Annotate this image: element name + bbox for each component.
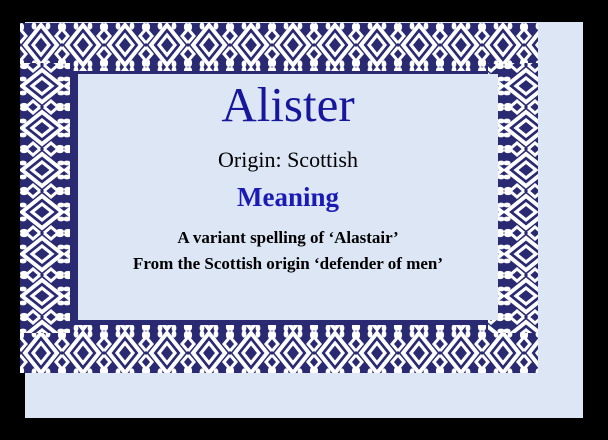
meaning-heading: Meaning: [237, 183, 339, 213]
meaning-body: A variant spelling of ‘Alastair’ From th…: [133, 225, 443, 278]
plaque-canvas: Alister Origin: Scottish Meaning A varia…: [0, 0, 608, 440]
origin-line: Origin: Scottish: [218, 148, 358, 172]
plaque-content-panel: Alister Origin: Scottish Meaning A varia…: [78, 74, 498, 320]
name-title: Alister: [221, 80, 354, 130]
meaning-line-1: A variant spelling of ‘Alastair’: [133, 225, 443, 251]
meaning-line-2: From the Scottish origin ‘defender of me…: [133, 251, 443, 277]
